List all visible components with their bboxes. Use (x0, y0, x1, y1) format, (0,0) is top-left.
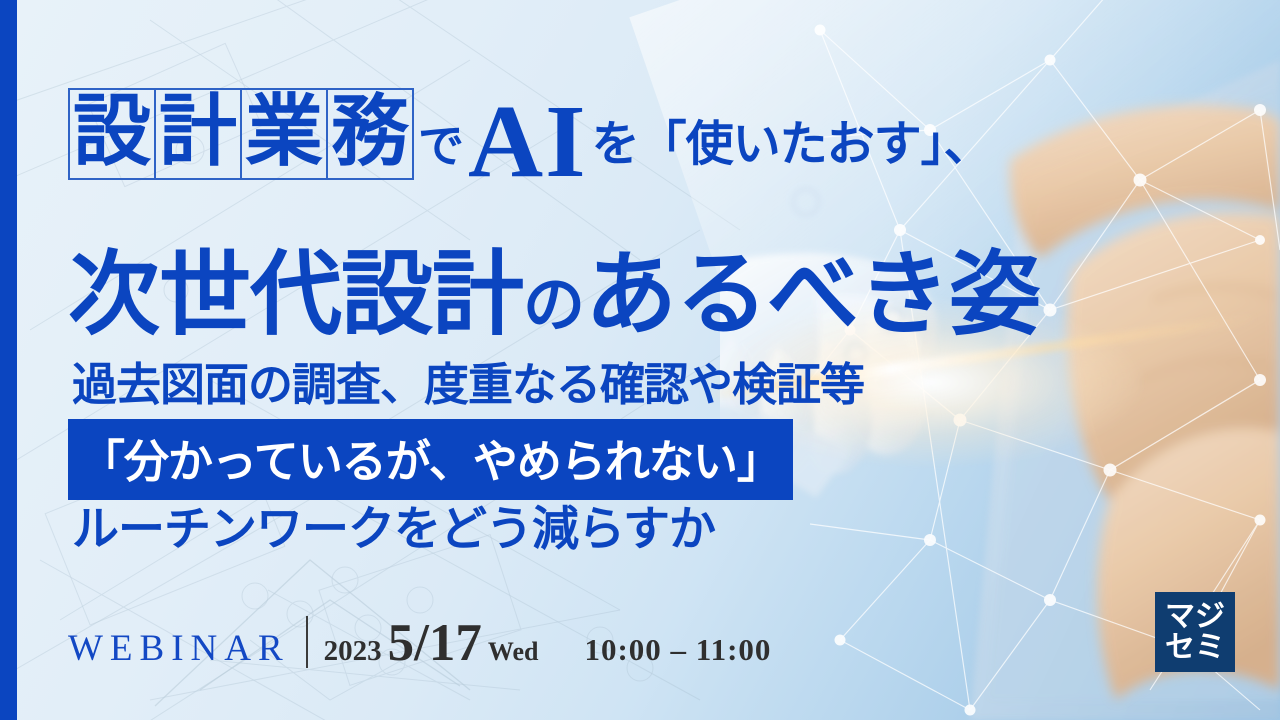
footer-schedule: WEBINAR 2023 5/17 Wed 10:00 – 11:00 (68, 608, 771, 673)
headline-line-2-part-a: 次世代設計 (68, 240, 523, 348)
headline-line-2-part-b: あるべき姿 (585, 240, 1040, 348)
subtitle-line-2: ルーチンワークをどう減らすか (72, 490, 715, 559)
logo-line-1: マジ (1165, 601, 1225, 632)
subtitle-highlight-bar: 「分かっているが、やめられない」 (68, 419, 793, 500)
logo-line-2: セミ (1165, 632, 1225, 663)
headline-line-1: 設 計 業 務 で AI を「使いたおす」、 (68, 88, 991, 180)
boxed-char-2: 計 (154, 88, 242, 180)
boxed-char-1: 設 (68, 88, 156, 180)
footer-divider (306, 616, 308, 668)
majiseminar-logo: マジ セミ (1155, 592, 1235, 672)
event-year: 2023 (324, 635, 382, 668)
headline-line-2: 次世代設計のあるべき姿 (68, 220, 1040, 353)
boxed-char-3: 業 (240, 88, 328, 180)
webinar-banner: 設 計 業 務 で AI を「使いたおす」、 次世代設計のあるべき姿 過去図面の… (0, 0, 1280, 720)
headline-line-1-tail: を「使いたおす」、 (592, 104, 991, 174)
event-day-of-week: Wed (488, 637, 539, 667)
subtitle-line-1: 過去図面の調査、度重なる確認や検証等 (72, 348, 864, 413)
webinar-label: WEBINAR (68, 627, 290, 670)
event-time: 10:00 – 11:00 (584, 632, 771, 668)
headline-line-2-no: の (523, 268, 585, 341)
boxed-char-4: 務 (326, 88, 414, 180)
boxed-keyword-group: 設 計 業 務 (68, 88, 412, 180)
headline-particle-de: で (418, 110, 464, 176)
banner-content: 設 計 業 務 で AI を「使いたおす」、 次世代設計のあるべき姿 過去図面の… (0, 0, 1280, 720)
headline-ai-text: AI (468, 99, 588, 184)
event-date: 5/17 (388, 613, 482, 673)
